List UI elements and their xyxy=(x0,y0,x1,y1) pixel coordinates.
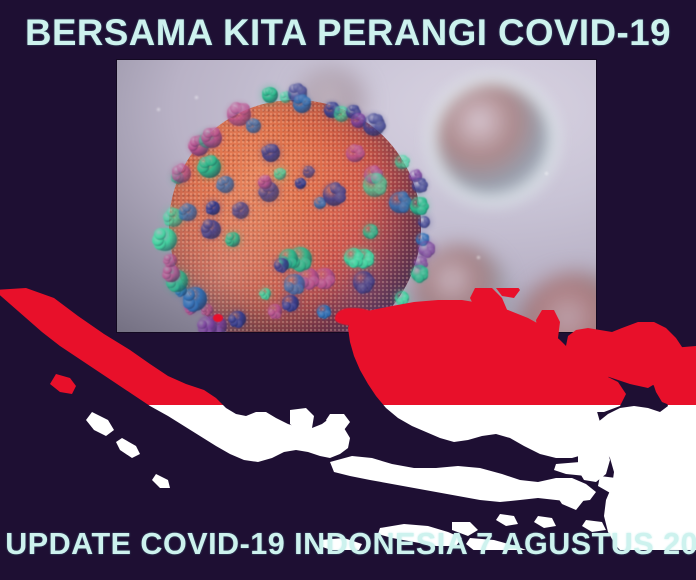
virus-spike-lobe xyxy=(402,161,409,168)
virus-spike-lobe xyxy=(335,192,346,203)
virus-spike-protein xyxy=(233,202,249,218)
virus-spike-protein xyxy=(202,128,222,148)
virus-spike-lobe xyxy=(263,175,270,182)
virus-spike-protein xyxy=(262,144,280,162)
photo-speck xyxy=(477,256,480,259)
virus-spike-lobe xyxy=(349,259,359,269)
virus-spike-protein xyxy=(201,220,220,239)
photo-speck xyxy=(545,172,548,175)
virus-spike-lobe xyxy=(209,201,216,208)
virus-spike-protein xyxy=(344,248,363,267)
map-islands xyxy=(0,288,696,550)
virus-spike-protein xyxy=(153,228,177,252)
island-enggano xyxy=(152,474,170,488)
island-sumatera xyxy=(0,288,350,462)
island-mentawai xyxy=(116,438,140,458)
virus-spike-protein xyxy=(262,87,278,103)
virus-spike-lobe xyxy=(269,144,278,153)
virus-spike-protein xyxy=(274,258,288,272)
virus-spike-lobe xyxy=(205,155,216,166)
virus-spike-protein xyxy=(410,197,428,215)
indonesia-map xyxy=(0,288,696,550)
virus-spike-lobe xyxy=(399,202,410,213)
virus-background-particle xyxy=(435,82,551,198)
poster-top-headline: BERSAMA KITA PERANGI COVID-19 xyxy=(3,11,692,55)
virus-spike-lobe xyxy=(154,228,166,240)
virus-spike-protein xyxy=(217,176,234,193)
virus-spike-lobe xyxy=(356,149,365,158)
virus-spike-protein xyxy=(274,168,286,180)
covid-poster: BERSAMA KITA PERANGI COVID-19 xyxy=(0,0,696,580)
poster-bottom-headline: UPDATE COVID-19 INDONESIA 7 AGUSTUS 2021 xyxy=(5,524,691,564)
virus-spike-lobe xyxy=(210,127,220,137)
virus-spike-protein xyxy=(395,155,409,169)
virus-spike-lobe xyxy=(252,119,259,126)
virus-spike-protein xyxy=(363,173,387,197)
virus-spike-lobe xyxy=(269,89,277,97)
island-siberut xyxy=(86,412,114,436)
virus-spike-lobe xyxy=(238,103,250,115)
virus-spike-protein xyxy=(293,95,311,113)
virus-spike-protein xyxy=(418,241,435,258)
virus-spike-protein xyxy=(179,204,197,222)
virus-spike-lobe xyxy=(203,219,213,229)
virus-spike-protein xyxy=(346,145,364,163)
virus-spike-lobe xyxy=(301,180,307,186)
virus-spike-protein xyxy=(418,216,430,228)
virus-spike-lobe xyxy=(422,222,428,228)
virus-spike-lobe xyxy=(221,176,229,184)
virus-spike-lobe xyxy=(167,207,177,217)
virus-spike-lobe xyxy=(368,232,375,239)
virus-spike-lobe xyxy=(302,97,311,106)
virus-spike-protein xyxy=(163,265,180,282)
virus-spike-protein xyxy=(363,114,385,136)
virus-spike-lobe xyxy=(415,274,424,283)
virus-spike-protein xyxy=(164,254,177,267)
virus-spike-protein xyxy=(389,192,411,214)
virus-spike-lobe xyxy=(226,233,233,240)
virus-spike-lobe xyxy=(182,203,191,212)
virus-spike-lobe xyxy=(177,163,187,173)
island-nias xyxy=(50,374,76,394)
virus-spike-protein xyxy=(206,201,219,214)
virus-spike-lobe xyxy=(419,185,427,193)
virus-spike-protein xyxy=(246,119,260,133)
virus-spike-lobe xyxy=(417,206,426,215)
virus-spike-protein xyxy=(411,265,428,282)
virus-spike-protein xyxy=(323,183,345,205)
virus-spike-protein xyxy=(226,232,241,247)
virus-spike-lobe xyxy=(164,255,170,261)
virus-spike-lobe xyxy=(280,169,286,175)
virus-spike-lobe xyxy=(375,121,386,132)
virus-spike-protein xyxy=(412,178,427,193)
virus-spike-protein xyxy=(363,224,378,239)
virus-spike-lobe xyxy=(236,202,244,210)
